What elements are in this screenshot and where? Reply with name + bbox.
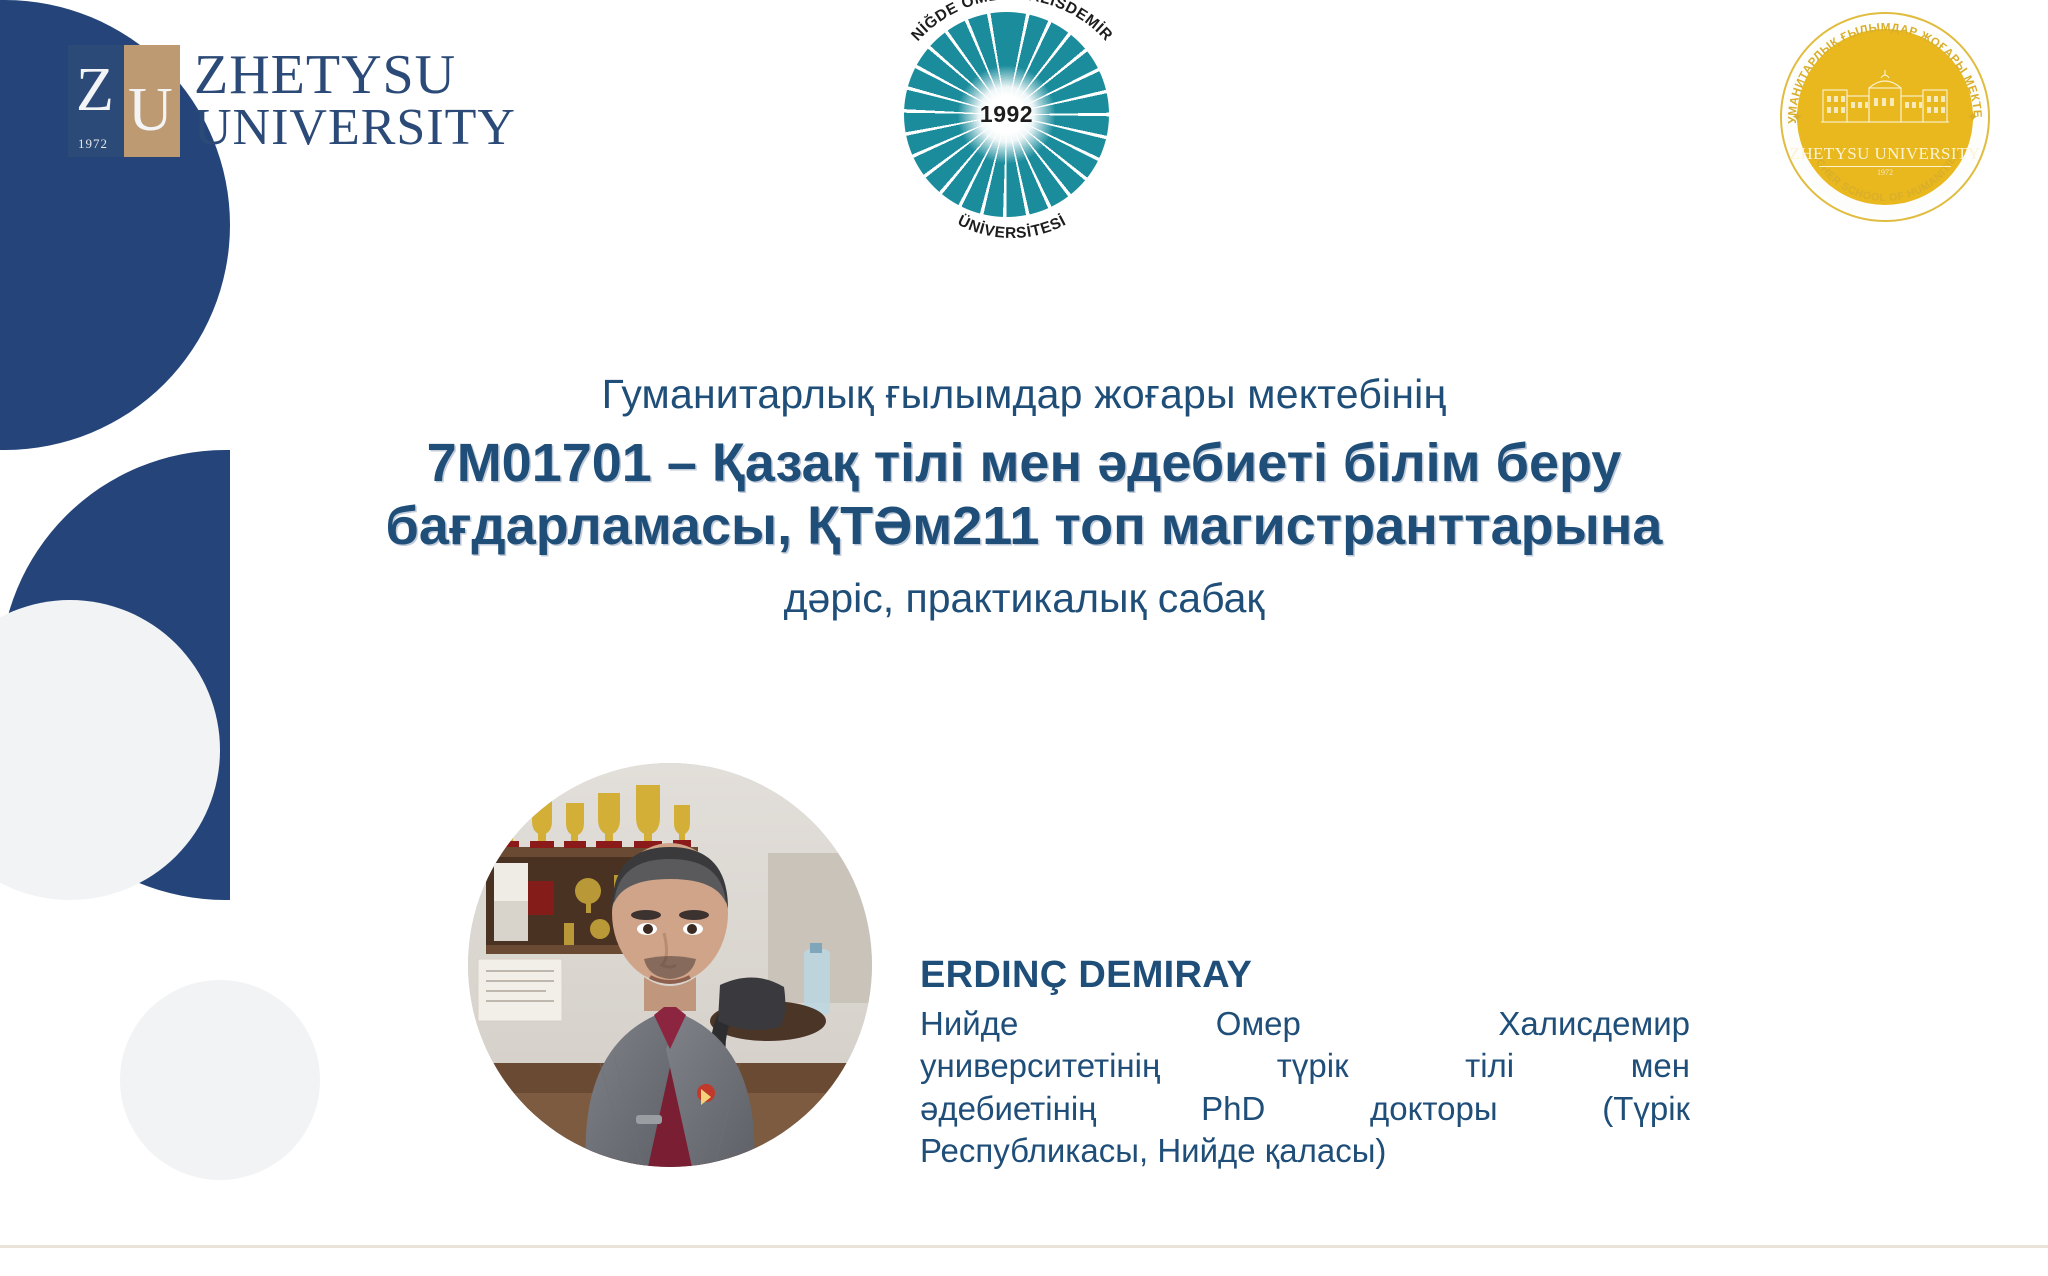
speaker-bio-line: Республикасы, Нийде қаласы) bbox=[920, 1130, 1690, 1173]
monogram-z: Z bbox=[76, 59, 114, 121]
monogram-u: U bbox=[128, 79, 173, 141]
pretitle: Гуманитарлық ғылымдар жоғары мектебінің bbox=[0, 370, 2048, 418]
logo-wordmark-line2: UNIVERSITY bbox=[194, 103, 516, 153]
zhetysu-university-logo: Z U 1972 ZHETYSU UNIVERSITY bbox=[68, 45, 516, 157]
main-title-line1: 7M01701 – Қазақ тілі мен әдебиеті білім … bbox=[244, 432, 1804, 495]
subtitle: дәріс, практикалық сабақ bbox=[0, 574, 2048, 623]
seal-star-right-icon: ✦ bbox=[1966, 108, 1979, 126]
seal-year: 1972 bbox=[1877, 168, 1893, 177]
logo-year: 1972 bbox=[78, 136, 108, 152]
speaker-name: ERDINÇ DEMIRAY bbox=[920, 955, 1690, 997]
bottom-bar bbox=[0, 1248, 2048, 1276]
university-building-icon bbox=[1821, 68, 1949, 126]
nigde-ring-text-top: NİĞDE ÖMER HALİSDEMİR bbox=[908, 0, 1115, 45]
presentation-slide: Z U 1972 ZHETYSU UNIVERSITY 1992 NİĞDE Ö… bbox=[0, 0, 2048, 1276]
seal-university-name: ZHETYSU UNIVERSITY bbox=[1790, 144, 1981, 164]
speaker-bio-line: университетінің түрік тілі мен bbox=[920, 1045, 1690, 1088]
speaker-bio: Нийде Омер Халисдемир университетінің тү… bbox=[920, 1003, 1690, 1173]
speaker-info: ERDINÇ DEMIRAY Нийде Омер Халисдемир уни… bbox=[920, 955, 1690, 1173]
nigde-university-logo: 1992 NİĞDE ÖMER HALİSDEMİR ÜNİVERSİTESİ bbox=[862, 6, 1162, 216]
title-block: Гуманитарлық ғылымдар жоғары мектебінің … bbox=[0, 370, 2048, 623]
humanities-school-seal: ГУМАНИТАРЛЫҚ ҒЫЛЫМДАР ЖОҒАРЫ МЕКТЕБІ HIG… bbox=[1780, 12, 1990, 222]
background-watermark bbox=[120, 980, 320, 1180]
main-title: 7M01701 – Қазақ тілі мен әдебиеті білім … bbox=[244, 432, 1804, 557]
logo-header: Z U 1972 ZHETYSU UNIVERSITY 1992 NİĞDE Ö… bbox=[0, 0, 2048, 230]
speaker-bio-line: әдебиетінің PhD докторы (Түрік bbox=[920, 1088, 1690, 1131]
logo-wordmark-line1: ZHETYSU bbox=[194, 49, 516, 103]
speaker-bio-line: Нийде Омер Халисдемир bbox=[920, 1003, 1690, 1046]
seal-star-left-icon: ✦ bbox=[1791, 108, 1804, 126]
main-title-line2: бағдарламасы, ҚТӘм211 топ магистранттары… bbox=[244, 495, 1804, 558]
sunburst-year: 1992 bbox=[980, 100, 1033, 127]
speaker-photo bbox=[468, 763, 872, 1167]
zu-monogram-icon: Z U 1972 bbox=[68, 45, 180, 157]
